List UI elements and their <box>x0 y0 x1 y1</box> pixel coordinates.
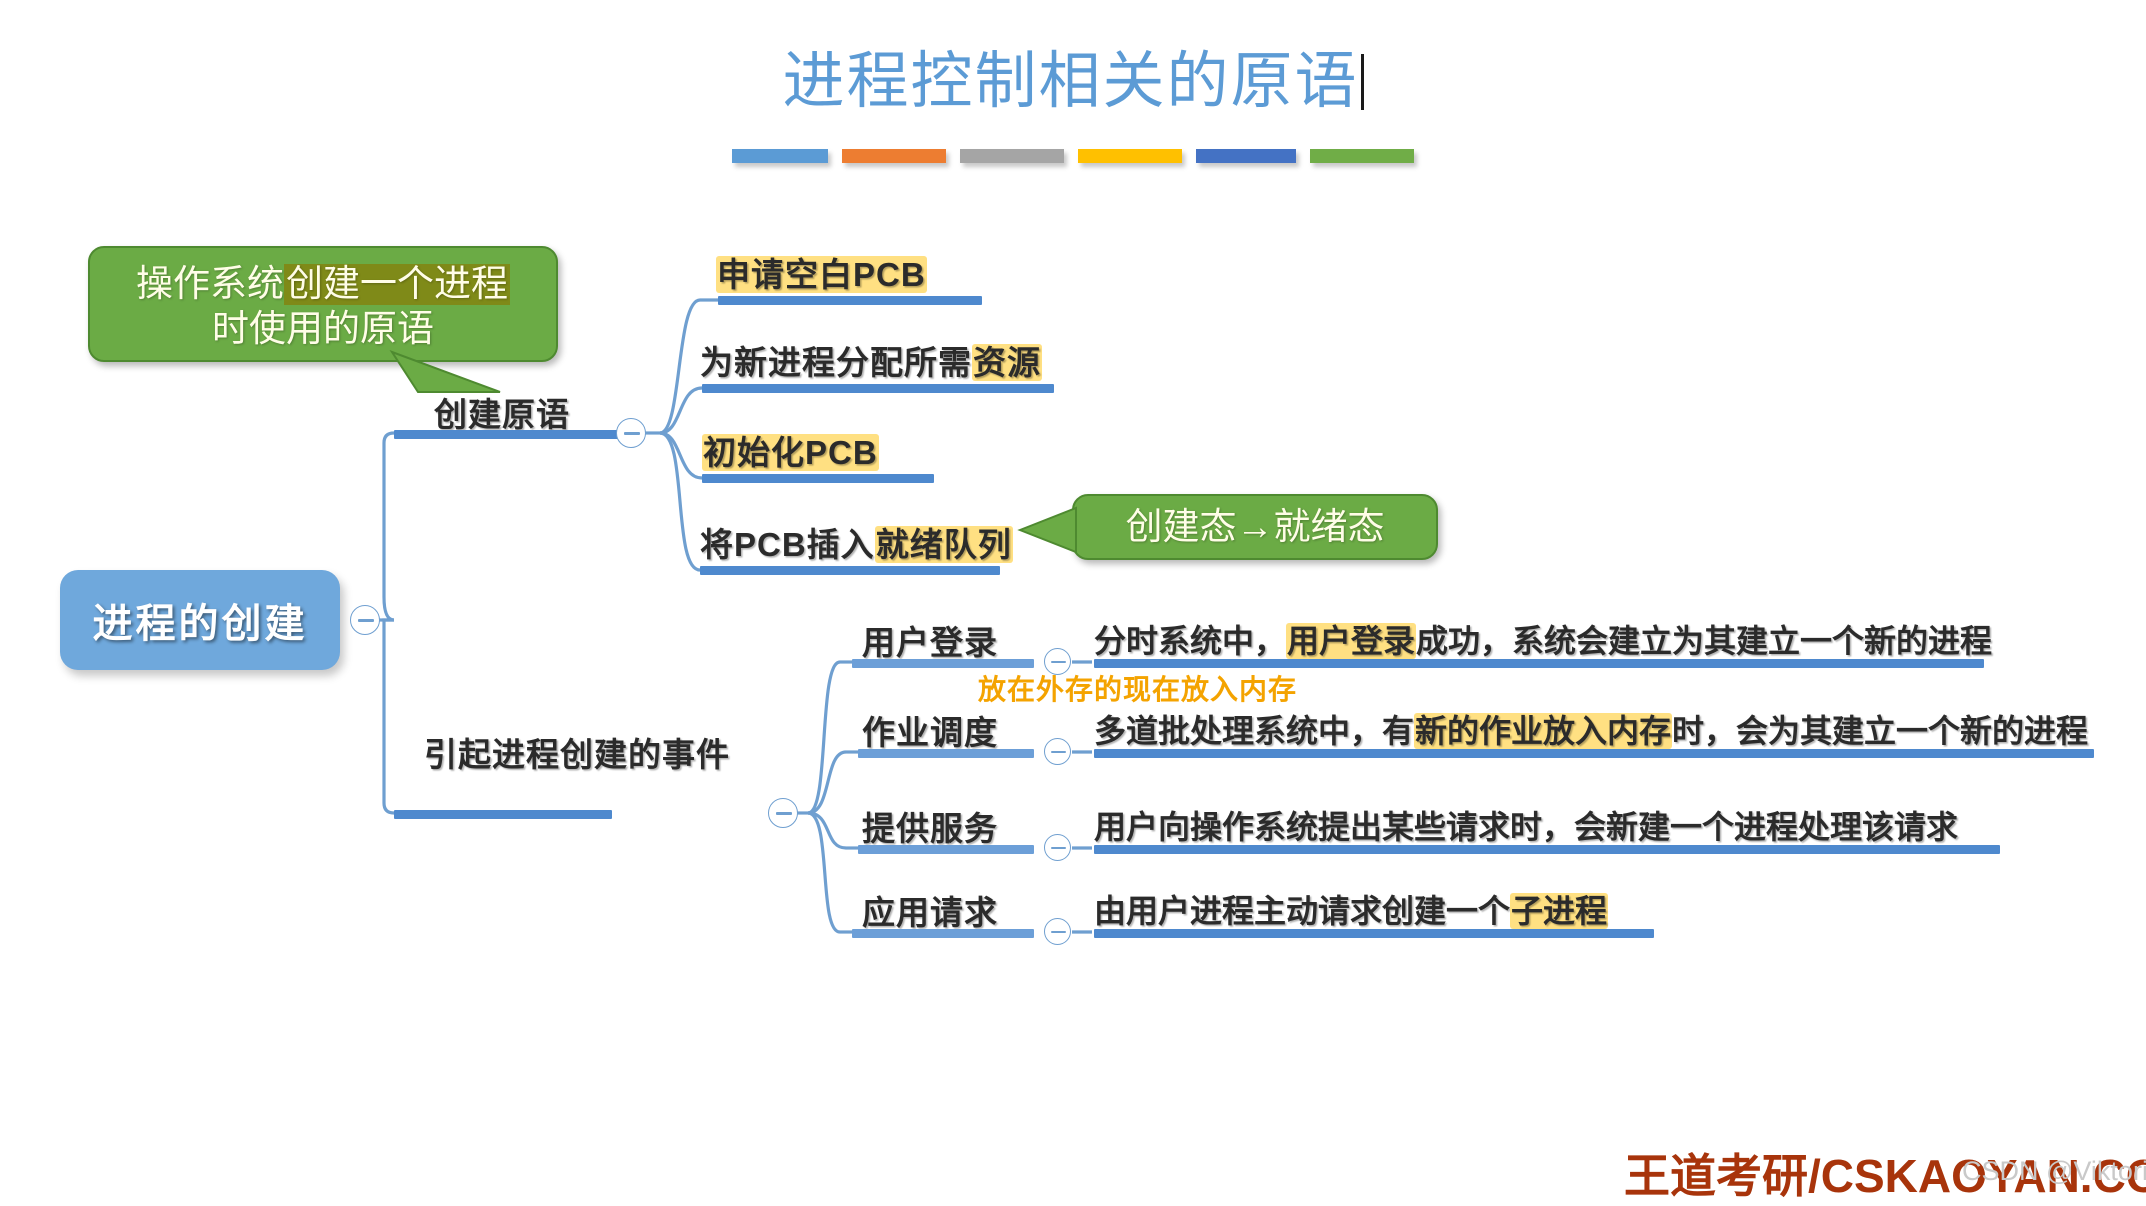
watermark-csdn: CSDN @Viktoriae <box>1962 1156 2146 1187</box>
callout-state-transition-tail-icon <box>0 0 2146 1196</box>
